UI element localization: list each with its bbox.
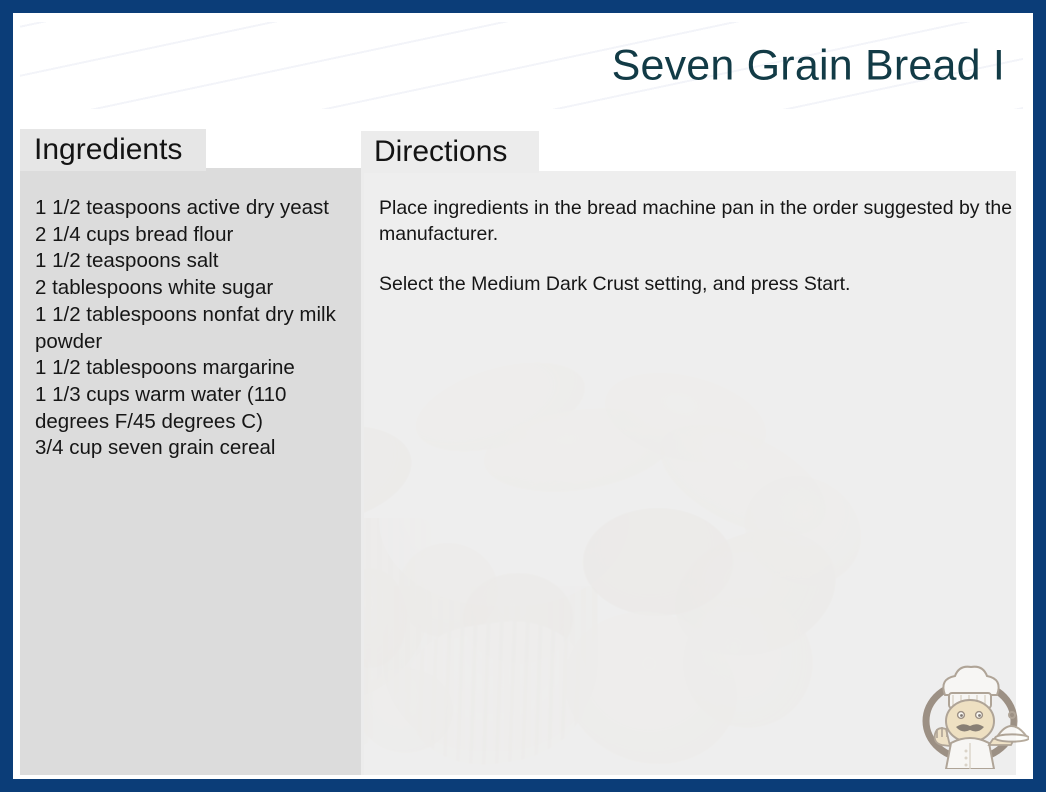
ingredients-list: 1 1/2 teaspoons active dry yeast 2 1/4 c… [35,195,365,462]
chef-with-cloche-logo [911,651,1029,769]
list-item: 1 1/2 tablespoons nonfat dry milk powder [35,302,365,355]
directions-text: Place ingredients in the bread machine p… [379,196,1019,298]
direction-step: Select the Medium Dark Crust setting, an… [379,272,1019,298]
ingredients-heading: Ingredients [34,133,182,167]
list-item: 3/4 cup seven grain cereal [35,435,365,462]
direction-step: Place ingredients in the bread machine p… [379,196,1019,247]
title-banner: Seven Grain Bread I [20,22,1023,109]
list-item: 1 1/2 teaspoons salt [35,248,365,275]
list-item: 2 1/4 cups bread flour [35,222,365,249]
list-item: 2 tablespoons white sugar [35,275,365,302]
slide-inner: Seven Grain Bread I [13,13,1033,779]
list-item: 1 1/2 teaspoons active dry yeast [35,195,365,222]
directions-heading: Directions [374,135,507,169]
list-item: 1 1/3 cups warm water (110 degrees F/45 … [35,382,365,435]
list-item: 1 1/2 tablespoons margarine [35,355,365,382]
slide: Seven Grain Bread I [0,0,1046,792]
page-title: Seven Grain Bread I [612,43,1005,88]
